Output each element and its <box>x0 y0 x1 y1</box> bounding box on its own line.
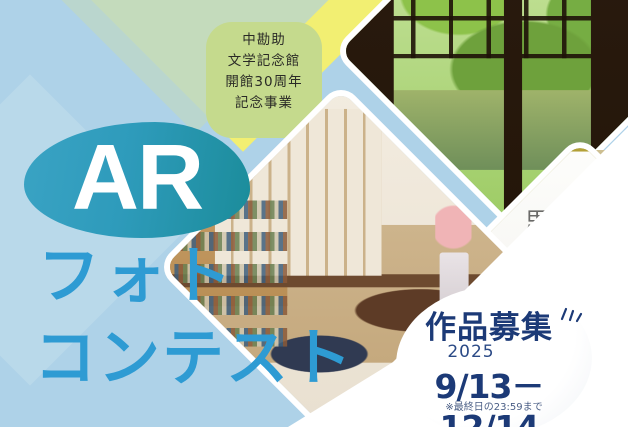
badge-year: 2025 <box>396 342 546 362</box>
anniversary-line-1: 中勘助 <box>206 30 322 51</box>
anniversary-line-4: 記念事業 <box>206 93 322 114</box>
anniversary-text: 中勘助 文学記念館 開館30周年 記念事業 <box>206 30 322 114</box>
badge-note: ※最終日の23:59まで <box>396 398 592 413</box>
sparkle-icon <box>558 302 584 326</box>
submission-badge: 作品募集 2025 9/13－12/14 ※最終日の23:59まで <box>396 286 592 427</box>
anniversary-line-2: 文学記念館 <box>206 51 322 72</box>
headline-line-1: フォト <box>38 246 236 308</box>
badge-title: 作品募集 <box>396 302 582 347</box>
poster-canvas: 中勘助 文学記念館 開館30周年 記念事業 思いのままに AR <box>0 0 628 427</box>
anniversary-line-3: 開館30周年 <box>206 72 322 93</box>
headline-line-2: コンテスト <box>34 328 354 390</box>
badge-dates: 9/13－12/14 <box>396 360 582 427</box>
ar-logo-label: AR <box>24 122 250 238</box>
